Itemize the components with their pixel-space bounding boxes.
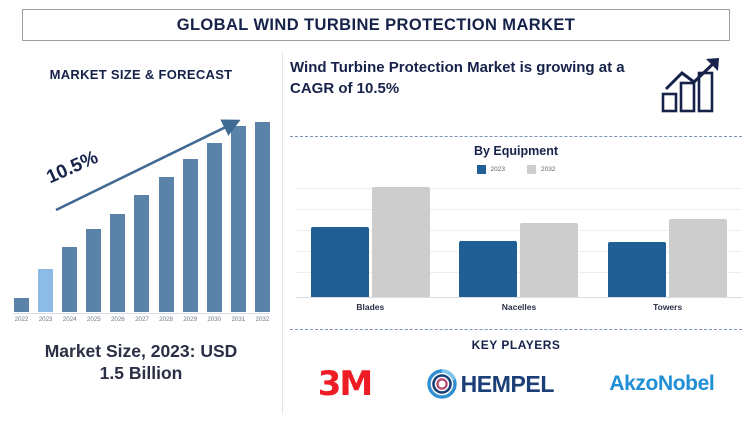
chart-baseline <box>296 297 742 298</box>
forecast-year-label: 2024 <box>62 316 77 323</box>
page-title: GLOBAL WIND TURBINE PROTECTION MARKET <box>177 16 576 35</box>
forecast-year-label: 2032 <box>255 316 270 323</box>
equipment-bar-group <box>311 187 430 297</box>
equipment-bar <box>459 241 517 297</box>
market-size-forecast-chart: 2022202320242025202620272028202920302031… <box>8 110 276 330</box>
market-size-heading: MARKET SIZE & FORECAST <box>0 67 282 82</box>
right-panel: Wind Turbine Protection Market is growin… <box>290 48 750 422</box>
logo-hempel: HEMPEL <box>427 369 554 399</box>
forecast-year-label: 2029 <box>183 316 198 323</box>
forecast-bar <box>255 122 270 312</box>
forecast-year-label: 2030 <box>207 316 222 323</box>
divider-dashed-top <box>290 136 742 137</box>
legend-item: 2023 <box>477 165 505 174</box>
forecast-year-label: 2022 <box>14 316 29 323</box>
key-players-title: KEY PLAYERS <box>290 338 742 352</box>
equipment-bar <box>311 227 369 297</box>
legend-swatch <box>527 165 536 174</box>
equipment-bar-groups <box>296 187 742 297</box>
market-size-footer-line1: Market Size, 2023: USD <box>45 341 238 361</box>
equipment-bar-group <box>608 219 727 297</box>
equipment-bar <box>608 242 666 297</box>
forecast-bar <box>207 143 222 312</box>
forecast-year-label: 2023 <box>38 316 53 323</box>
logo-akzonobel: AkzoNobel <box>609 372 714 396</box>
forecast-year-label: 2028 <box>159 316 174 323</box>
key-players-row: 3M HEMPEL AkzoNobel <box>290 358 742 410</box>
headline-row: Wind Turbine Protection Market is growin… <box>290 58 750 114</box>
forecast-bar <box>231 126 246 312</box>
hempel-spiral-icon <box>427 369 457 399</box>
market-size-footer: Market Size, 2023: USD 1.5 Billion <box>6 340 276 385</box>
forecast-bar <box>110 214 125 312</box>
forecast-year-label: 2027 <box>134 316 149 323</box>
legend-swatch <box>477 165 486 174</box>
equipment-category-label: Blades <box>311 302 430 312</box>
equipment-category-label: Towers <box>608 302 727 312</box>
forecast-bar <box>14 298 29 312</box>
equipment-bar <box>669 219 727 297</box>
panel-divider <box>282 52 283 414</box>
infographic-root: GLOBAL WIND TURBINE PROTECTION MARKET MA… <box>0 0 750 422</box>
equipment-category-label: Nacelles <box>459 302 578 312</box>
equipment-category-labels: BladesNacellesTowers <box>296 302 742 318</box>
forecast-bars <box>14 122 270 312</box>
legend-label: 2032 <box>541 166 555 173</box>
equipment-bar <box>372 187 430 297</box>
legend-label: 2023 <box>491 166 505 173</box>
equipment-bar <box>520 223 578 297</box>
forecast-bar <box>183 159 198 312</box>
market-size-footer-line2: 1.5 Billion <box>100 363 183 383</box>
forecast-bar <box>134 195 149 312</box>
forecast-bar <box>86 229 101 312</box>
cagr-headline: Wind Turbine Protection Market is growin… <box>290 58 645 99</box>
forecast-year-label: 2026 <box>110 316 125 323</box>
hempel-wordmark: HEMPEL <box>461 371 554 398</box>
forecast-bar <box>62 247 77 312</box>
forecast-year-label: 2025 <box>86 316 101 323</box>
forecast-bar <box>159 177 174 312</box>
forecast-bar <box>38 269 53 312</box>
forecast-axis-line <box>14 313 270 314</box>
market-size-panel: MARKET SIZE & FORECAST 20222023202420252… <box>0 48 282 422</box>
segment-title: By Equipment <box>290 144 742 158</box>
divider-dashed-bottom <box>290 329 742 330</box>
forecast-year-labels: 2022202320242025202620272028202920302031… <box>14 316 270 330</box>
page-title-box: GLOBAL WIND TURBINE PROTECTION MARKET <box>22 9 730 41</box>
forecast-year-label: 2031 <box>231 316 246 323</box>
by-equipment-chart: BladesNacellesTowers <box>296 182 742 322</box>
legend-item: 2032 <box>527 165 555 174</box>
logo-3m: 3M <box>318 367 372 401</box>
equipment-bar-group <box>459 223 578 297</box>
growth-chart-icon <box>660 56 728 114</box>
equipment-chart-legend: 20232032 <box>290 165 742 174</box>
